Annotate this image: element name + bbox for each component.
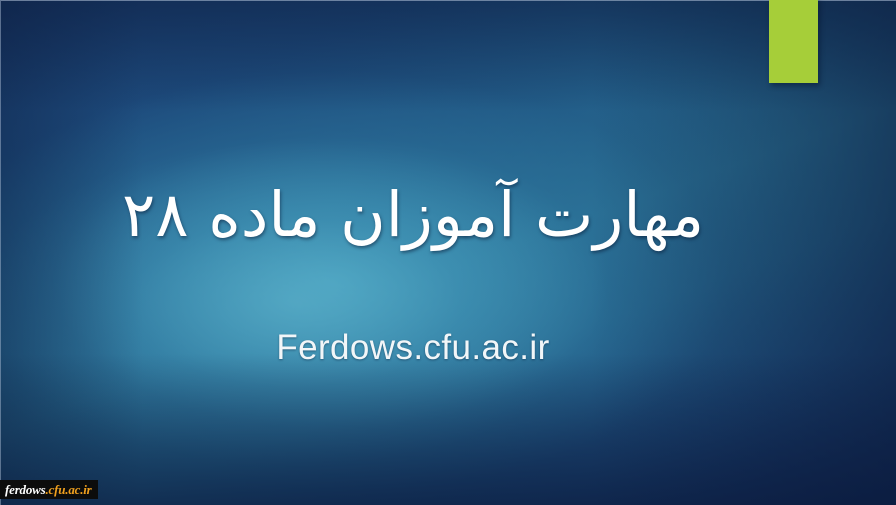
presentation-slide: مهارت آموزان ماده ۲۸ Ferdows.cfu.ac.ir f… [0,0,896,505]
watermark-tld-text: .cfu.ac.ir [46,480,92,499]
slide-subtitle: Ferdows.cfu.ac.ir [60,328,766,368]
slide-text-block: مهارت آموزان ماده ۲۸ Ferdows.cfu.ac.ir [0,0,896,505]
slide-title: مهارت آموزان ماده ۲۸ [60,178,766,251]
watermark-main-text: ferdows [5,480,46,499]
watermark-badge: ferdows .cfu.ac.ir [0,480,98,499]
